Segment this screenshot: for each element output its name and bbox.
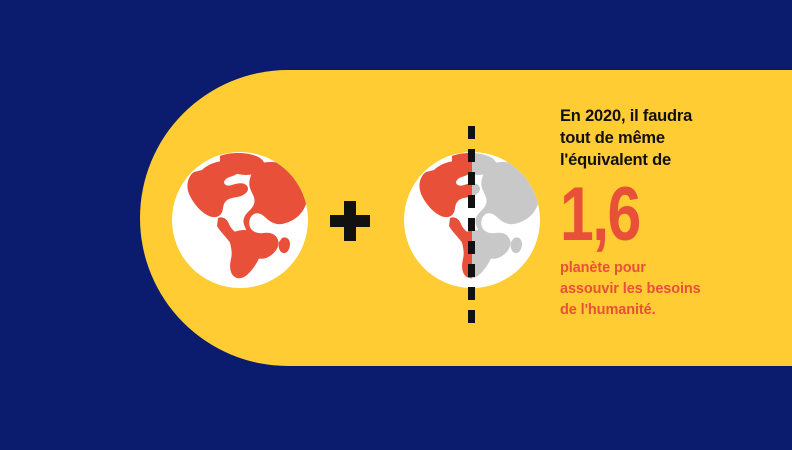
dashed-divider-line [468, 126, 475, 329]
infographic-canvas: En 2020, il faudra tout de même l'équiva… [0, 0, 792, 450]
subline-line-2: assouvir les besoins [560, 279, 775, 300]
big-number-value: 1,6 [560, 181, 732, 249]
text-column: En 2020, il faudra tout de même l'équiva… [560, 106, 775, 321]
subline-line-3: de l'humanité. [560, 300, 775, 321]
headline-line-1: En 2020, il faudra [560, 106, 775, 128]
plus-sign [330, 201, 370, 241]
headline-line-3: l'équivalent de [560, 150, 775, 172]
earth-globe-full [172, 152, 308, 288]
headline: En 2020, il faudra tout de même l'équiva… [560, 106, 775, 171]
plus-bar-vertical [344, 201, 356, 241]
subline-line-1: planète pour [560, 258, 775, 279]
subline: planète pour assouvir les besoins de l'h… [560, 258, 775, 321]
headline-line-2: tout de même [560, 128, 775, 150]
